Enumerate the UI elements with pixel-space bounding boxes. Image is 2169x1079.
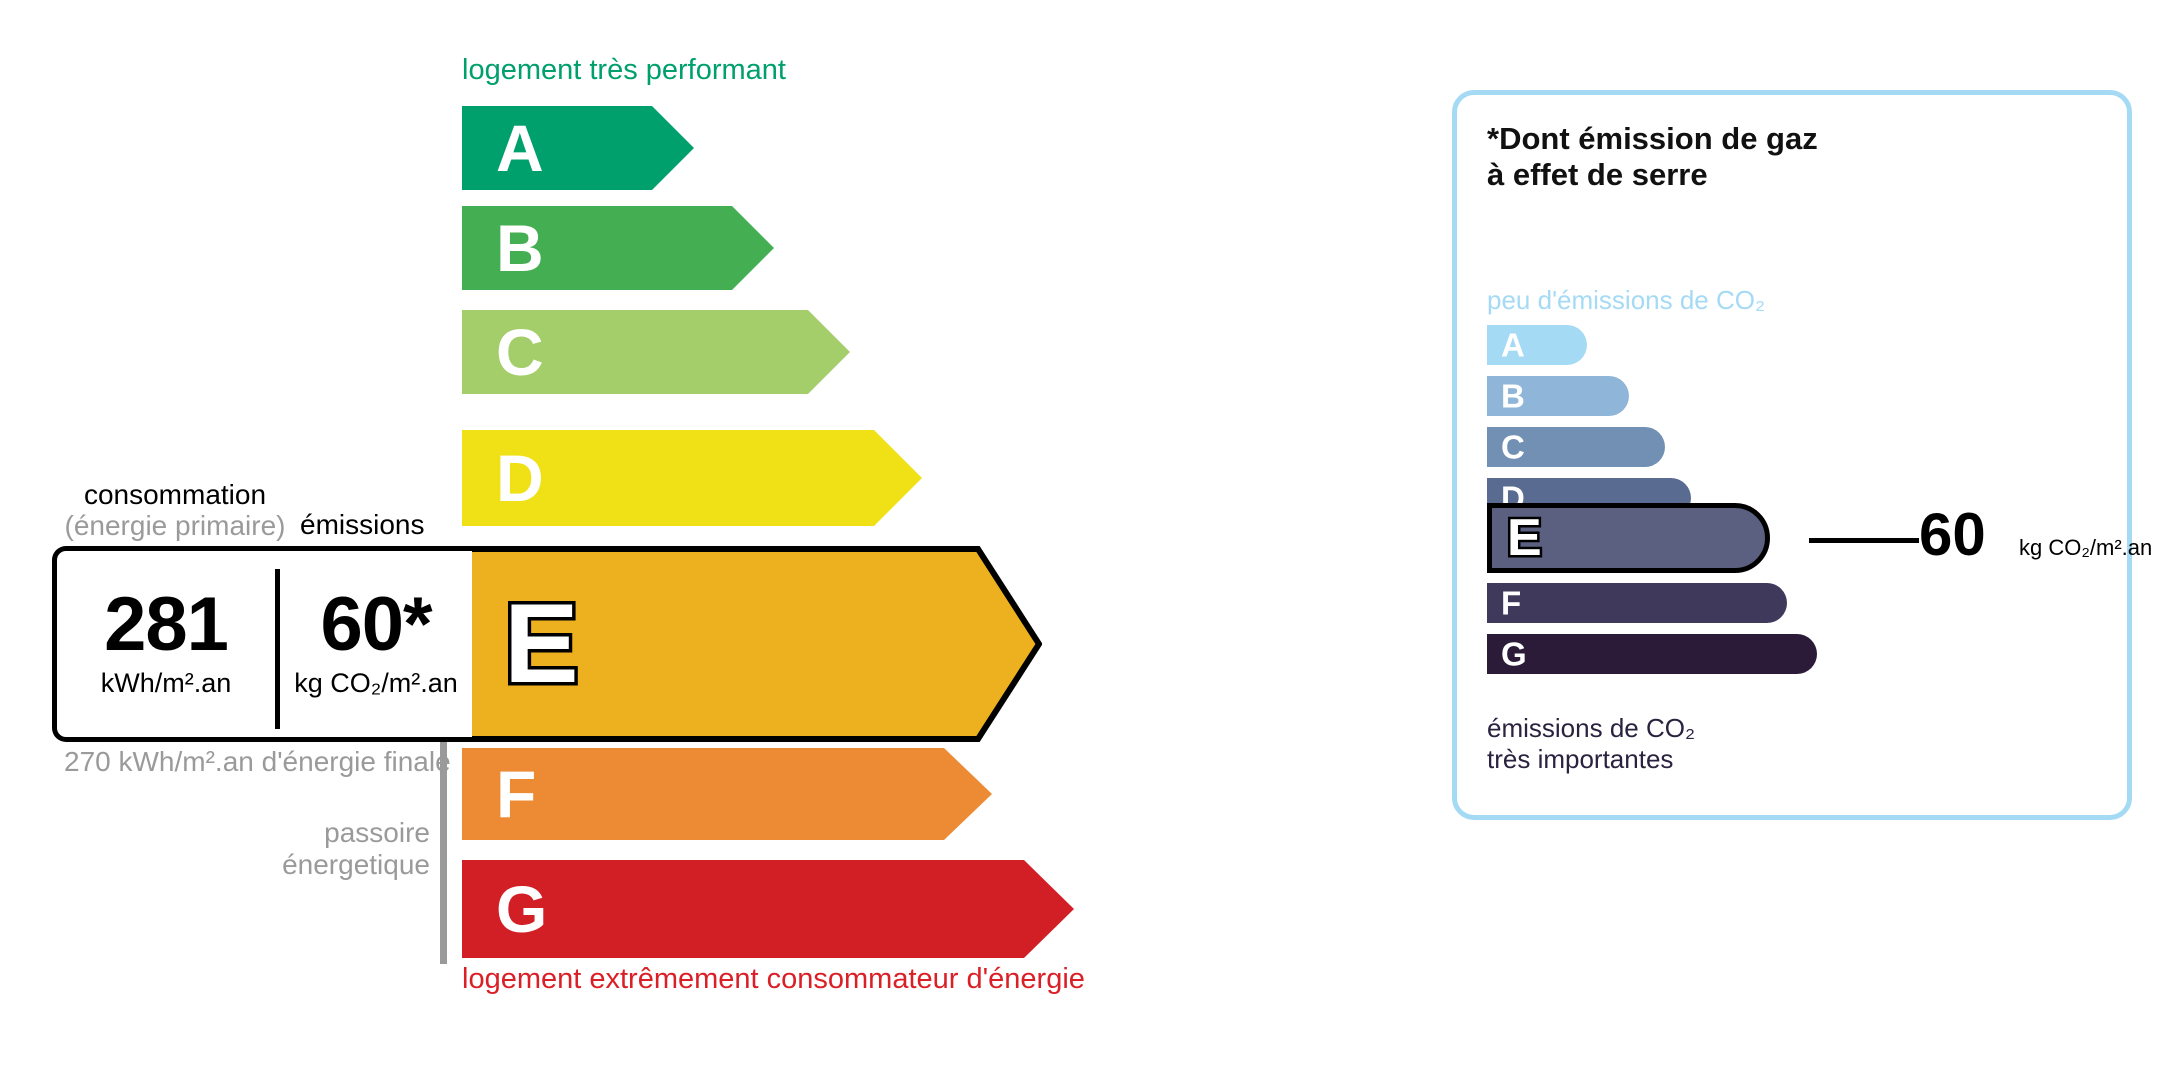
energy-performance-panel: logement très performant A B C D E [0,0,1400,1079]
co2-callout-unit: kg CO₂/m².an [2019,535,2152,561]
co2-emissions-panel: *Dont émission de gaz à effet de serre p… [1452,90,2132,820]
energy-class-letter-e: E [504,588,579,700]
consumption-label-main: consommation [60,479,290,510]
co2-class-row-g: G [1487,634,1817,674]
emission-value: 60* [320,589,431,661]
arrow-shape-g [462,860,1074,958]
co2-class-row-b: B [1487,376,1629,416]
energy-caption-bottom: logement extrêmement consommateur d'éner… [462,963,1085,996]
passoire-divider [440,742,447,964]
co2-class-letter-b: B [1501,380,1525,413]
co2-class-letter-g: G [1501,638,1527,671]
energy-class-letter-g: G [496,876,547,942]
values-box: 281 kWh/m².an 60* kg CO₂/m².an [52,546,472,742]
co2-class-letter-a: A [1501,329,1525,362]
consumption-unit: kWh/m².an [101,668,232,699]
co2-callout-value: 60 [1919,505,1986,565]
passoire-energetique-label: passoire énergetique [180,817,430,881]
energy-class-letter-c: C [496,319,544,385]
final-energy-label: 270 kWh/m².an d'énergie finale [64,746,451,778]
emission-value-cell: 60* kg CO₂/m².an [279,551,473,737]
emission-unit: kg CO₂/m².an [294,668,458,699]
co2-class-letter-e: E [1507,512,1542,564]
consumption-value: 281 [104,589,228,661]
energy-class-letter-a: A [496,115,544,181]
co2-class-row-a: A [1487,325,1587,365]
co2-caption-bottom: émissions de CO₂ très importantes [1487,713,1695,774]
co2-class-row-f: F [1487,583,1787,623]
co2-callout-leader-line [1809,538,1919,543]
co2-class-row-c: C [1487,427,1665,467]
co2-class-row-e: E [1487,503,1770,573]
co2-class-letter-f: F [1501,587,1521,620]
energy-class-row-f: F [462,748,992,840]
energy-class-row-e: E [462,546,1042,742]
consumption-label: consommation (énergie primaire) [60,479,290,542]
co2-panel-title: *Dont émission de gaz à effet de serre [1487,121,1818,193]
energy-class-row-b: B [462,206,774,290]
co2-class-letter-c: C [1501,431,1525,464]
energy-class-row-a: A [462,106,694,190]
energy-class-row-d: D [462,430,922,526]
energy-class-row-c: C [462,310,850,394]
energy-class-row-g: G [462,860,1074,958]
co2-bar-f [1487,583,1787,623]
consumption-label-sub: (énergie primaire) [60,510,290,541]
co2-bar-g [1487,634,1817,674]
energy-class-letter-d: D [496,445,544,511]
energy-class-letter-b: B [496,215,544,281]
energy-class-letter-f: F [496,761,536,827]
co2-caption-top: peu d'émissions de CO₂ [1487,285,1765,316]
arrow-shape-f [462,748,992,840]
emissions-label: émissions [300,509,424,541]
consumption-value-cell: 281 kWh/m².an [57,551,275,737]
energy-caption-top: logement très performant [462,54,786,87]
